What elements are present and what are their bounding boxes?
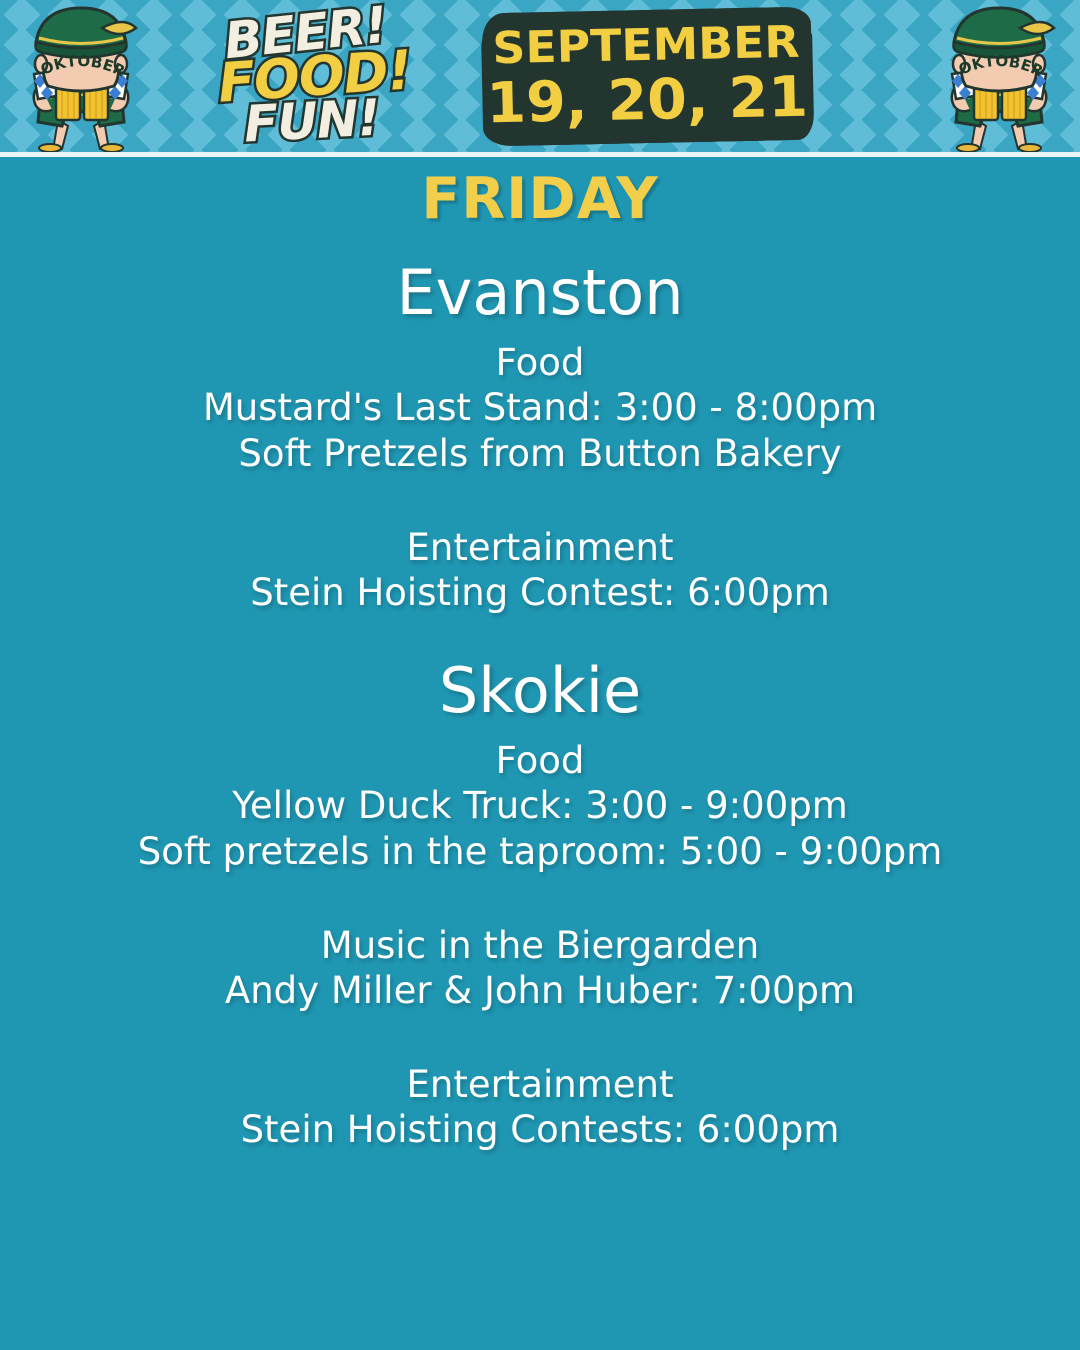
venue-group-food: Food Mustard's Last Stand: 3:00 - 8:00pm… xyxy=(0,340,1080,477)
tagline-lockup: BEER! FOOD! FUN! xyxy=(218,8,433,146)
venue-group-music: Music in the Biergarden Andy Miller & Jo… xyxy=(0,923,1080,1014)
tagline-line-fun: FUN! xyxy=(243,92,381,149)
venue-section-evanston: Evanston Food Mustard's Last Stand: 3:00… xyxy=(0,228,1080,616)
group-heading: Entertainment xyxy=(0,1062,1080,1107)
group-item: Andy Miller & John Huber: 7:00pm xyxy=(0,968,1080,1014)
group-item: Yellow Duck Truck: 3:00 - 9:00pm xyxy=(0,783,1080,829)
venue-section-skokie: Skokie Food Yellow Duck Truck: 3:00 - 9:… xyxy=(0,616,1080,1153)
oktoberfest-mascot-icon: OKTOBERFEST xyxy=(924,2,1074,152)
group-heading: Entertainment xyxy=(0,525,1080,570)
group-item: Soft pretzels in the taproom: 5:00 - 9:0… xyxy=(0,829,1080,875)
event-date-badge: SEPTEMBER 19, 20, 21 xyxy=(486,11,809,143)
venue-group-entertainment: Entertainment Stein Hoisting Contests: 6… xyxy=(0,1062,1080,1153)
event-month: SEPTEMBER xyxy=(492,21,800,71)
group-item: Mustard's Last Stand: 3:00 - 8:00pm xyxy=(0,385,1080,431)
venue-group-food: Food Yellow Duck Truck: 3:00 - 9:00pm So… xyxy=(0,738,1080,875)
venue-group-entertainment: Entertainment Stein Hoisting Contest: 6:… xyxy=(0,525,1080,616)
oktoberfest-schedule-poster: OKTOBERFEST BEER! FOOD! FUN! SEPTEMBER 1… xyxy=(0,0,1080,1350)
schedule-content: FRIDAY Evanston Food Mustard's Last Stan… xyxy=(0,157,1080,1153)
venue-name: Skokie xyxy=(0,660,1080,722)
page-title: FRIDAY xyxy=(0,171,1080,228)
group-heading: Music in the Biergarden xyxy=(0,923,1080,968)
event-days: 19, 20, 21 xyxy=(486,70,809,133)
group-heading: Food xyxy=(0,738,1080,783)
venue-name: Evanston xyxy=(0,262,1080,324)
group-item: Stein Hoisting Contests: 6:00pm xyxy=(0,1107,1080,1153)
group-item: Stein Hoisting Contest: 6:00pm xyxy=(0,570,1080,616)
header-banner: OKTOBERFEST BEER! FOOD! FUN! SEPTEMBER 1… xyxy=(0,0,1080,152)
oktoberfest-mascot-icon: OKTOBERFEST xyxy=(6,2,156,152)
group-item: Soft Pretzels from Button Bakery xyxy=(0,431,1080,477)
group-heading: Food xyxy=(0,340,1080,385)
